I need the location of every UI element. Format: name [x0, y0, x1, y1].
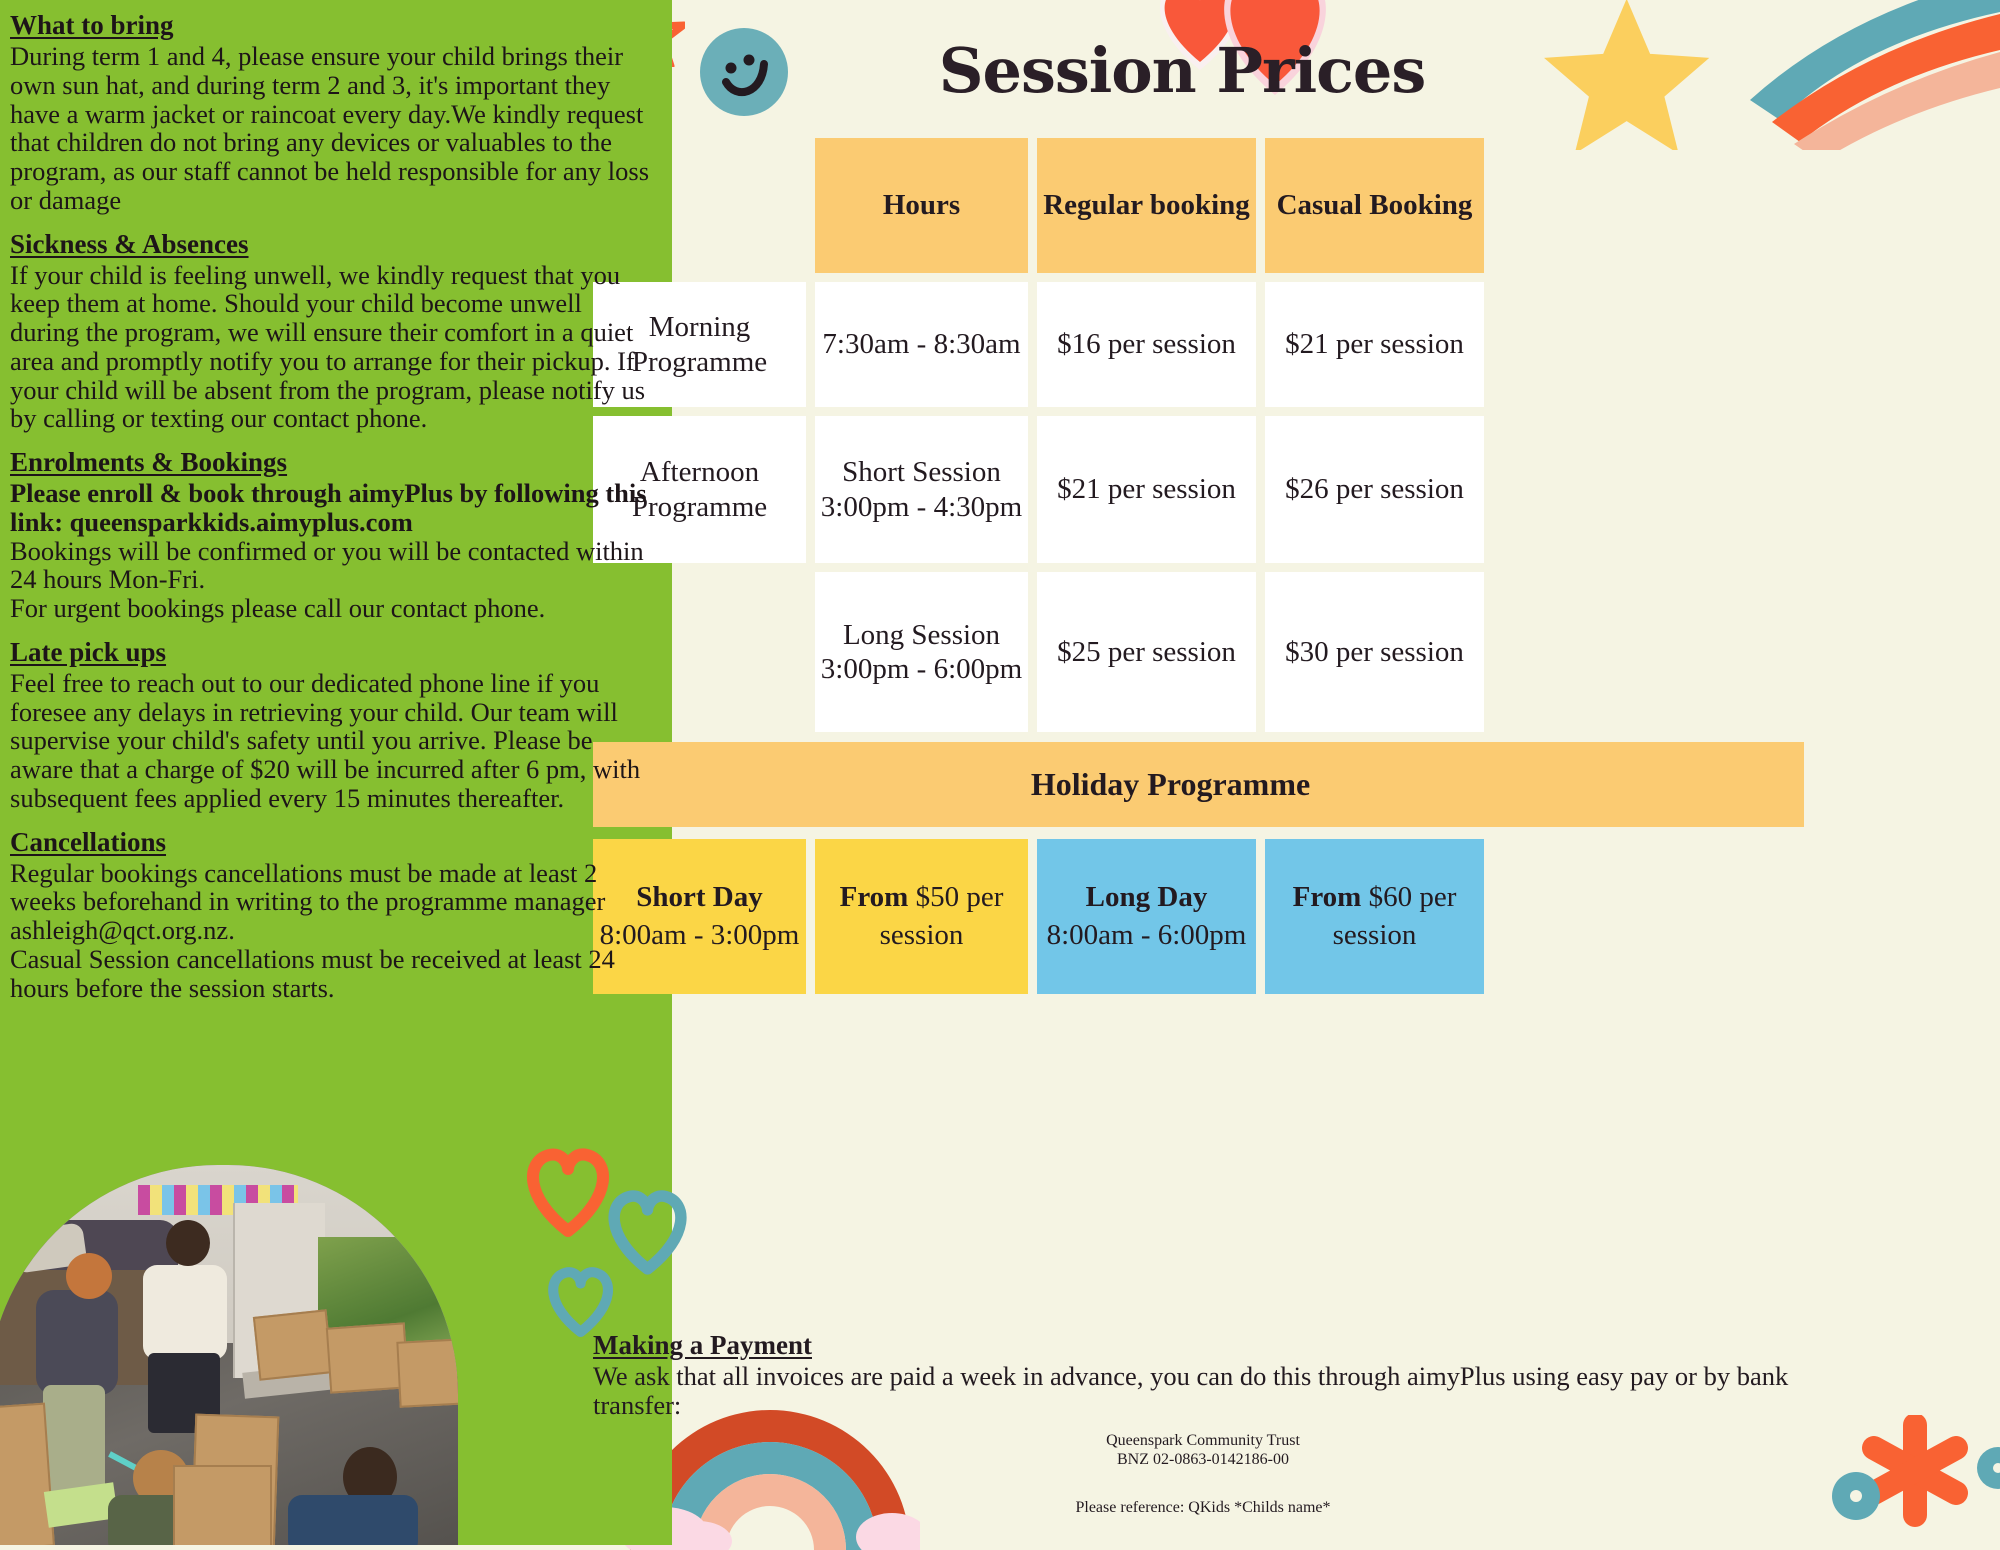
cell-casual-price: $21 per session	[1265, 282, 1484, 407]
holiday-cell-prefix: From	[1293, 881, 1362, 913]
holiday-cell-detail: 8:00am - 6:00pm	[1047, 917, 1247, 955]
smiley-face-icon	[696, 24, 792, 120]
section-heading: Late pick ups	[10, 637, 166, 668]
making-a-payment-section: Making a Payment We ask that all invoice…	[593, 1330, 1813, 1517]
table-row: Long Session 3:00pm - 6:00pm $25 per ses…	[593, 572, 1804, 732]
header-cell-regular: Regular booking	[1037, 138, 1256, 273]
holiday-price-line: From $50 per session	[815, 879, 1028, 954]
cell-casual-price: $30 per session	[1265, 572, 1484, 732]
section-heading: Sickness & Absences	[10, 229, 249, 260]
holiday-programme-label: Holiday Programme	[1031, 766, 1310, 803]
right-content: Session Prices Hours Regular booking Cas…	[672, 0, 2000, 1545]
children-activity-photo	[0, 1165, 458, 1545]
holiday-cell-short-day-price: From $50 per session	[815, 839, 1028, 994]
section-body: Bookings will be confirmed or you will b…	[10, 537, 650, 623]
account-number: BNZ 02-0863-0142186-00	[593, 1451, 1813, 1469]
poster-root: What to bring During term 1 and 4, pleas…	[0, 0, 2000, 1545]
holiday-cell-prefix: From	[840, 881, 909, 913]
payment-heading: Making a Payment	[593, 1330, 812, 1361]
holiday-row: Short Day 8:00am - 3:00pm From $50 per s…	[593, 839, 1804, 994]
holiday-cell-title: Long Day	[1086, 879, 1208, 917]
holiday-cell-long-day-price: From $60 per session	[1265, 839, 1484, 994]
table-row: Morning Programme 7:30am - 8:30am $16 pe…	[593, 282, 1804, 407]
cell-hours: Long Session 3:00pm - 6:00pm	[815, 572, 1028, 732]
header-cell-hours: Hours	[815, 138, 1028, 273]
payment-reference: Please reference: QKids *Childs name*	[593, 1499, 1813, 1517]
table-header-row: Hours Regular booking Casual Booking	[593, 138, 1804, 273]
cell-regular-price: $16 per session	[1037, 282, 1256, 407]
section-body: Regular bookings cancellations must be m…	[10, 859, 650, 1003]
account-name: Queenspark Community Trust	[593, 1432, 1813, 1450]
table-row: Afternoon Programme Short Session 3:00pm…	[593, 416, 1804, 563]
cell-regular-price: $25 per session	[1037, 572, 1256, 732]
section-heading: Enrolments & Bookings	[10, 447, 287, 478]
page-title: Session Prices	[902, 34, 1462, 107]
holiday-programme-banner: Holiday Programme	[593, 742, 1804, 827]
section-enrolments-bookings: Enrolments & Bookings Please enroll & bo…	[10, 447, 650, 623]
section-cancellations: Cancellations Regular bookings cancellat…	[10, 827, 650, 1003]
cell-regular-price: $21 per session	[1037, 416, 1256, 563]
section-what-to-bring: What to bring During term 1 and 4, pleas…	[10, 10, 650, 215]
holiday-cell-title: Short Day	[636, 879, 762, 917]
cell-hours: 7:30am - 8:30am	[815, 282, 1028, 407]
holiday-cell-long-day: Long Day 8:00am - 6:00pm	[1037, 839, 1256, 994]
section-body: If your child is feeling unwell, we kind…	[10, 261, 650, 434]
section-heading: Cancellations	[10, 827, 166, 858]
section-heading: What to bring	[10, 10, 174, 41]
bank-details: Queenspark Community Trust BNZ 02-0863-0…	[593, 1432, 1813, 1469]
left-info-content: What to bring During term 1 and 4, pleas…	[10, 10, 650, 1016]
section-late-pick-ups: Late pick ups Feel free to reach out to …	[10, 637, 650, 813]
session-prices-table: Hours Regular booking Casual Booking Mor…	[593, 138, 1804, 994]
cell-casual-price: $26 per session	[1265, 416, 1484, 563]
holiday-price-line: From $60 per session	[1265, 879, 1484, 954]
section-body: During term 1 and 4, please ensure your …	[10, 42, 650, 215]
section-body-bold: Please enroll & book through aimyPlus by…	[10, 479, 650, 537]
payment-body: We ask that all invoices are paid a week…	[593, 1362, 1813, 1420]
cell-hours: Short Session 3:00pm - 4:30pm	[815, 416, 1028, 563]
section-sickness-absences: Sickness & Absences If your child is fee…	[10, 229, 650, 434]
header-cell-casual: Casual Booking	[1265, 138, 1484, 273]
section-body: Feel free to reach out to our dedicated …	[10, 669, 650, 813]
